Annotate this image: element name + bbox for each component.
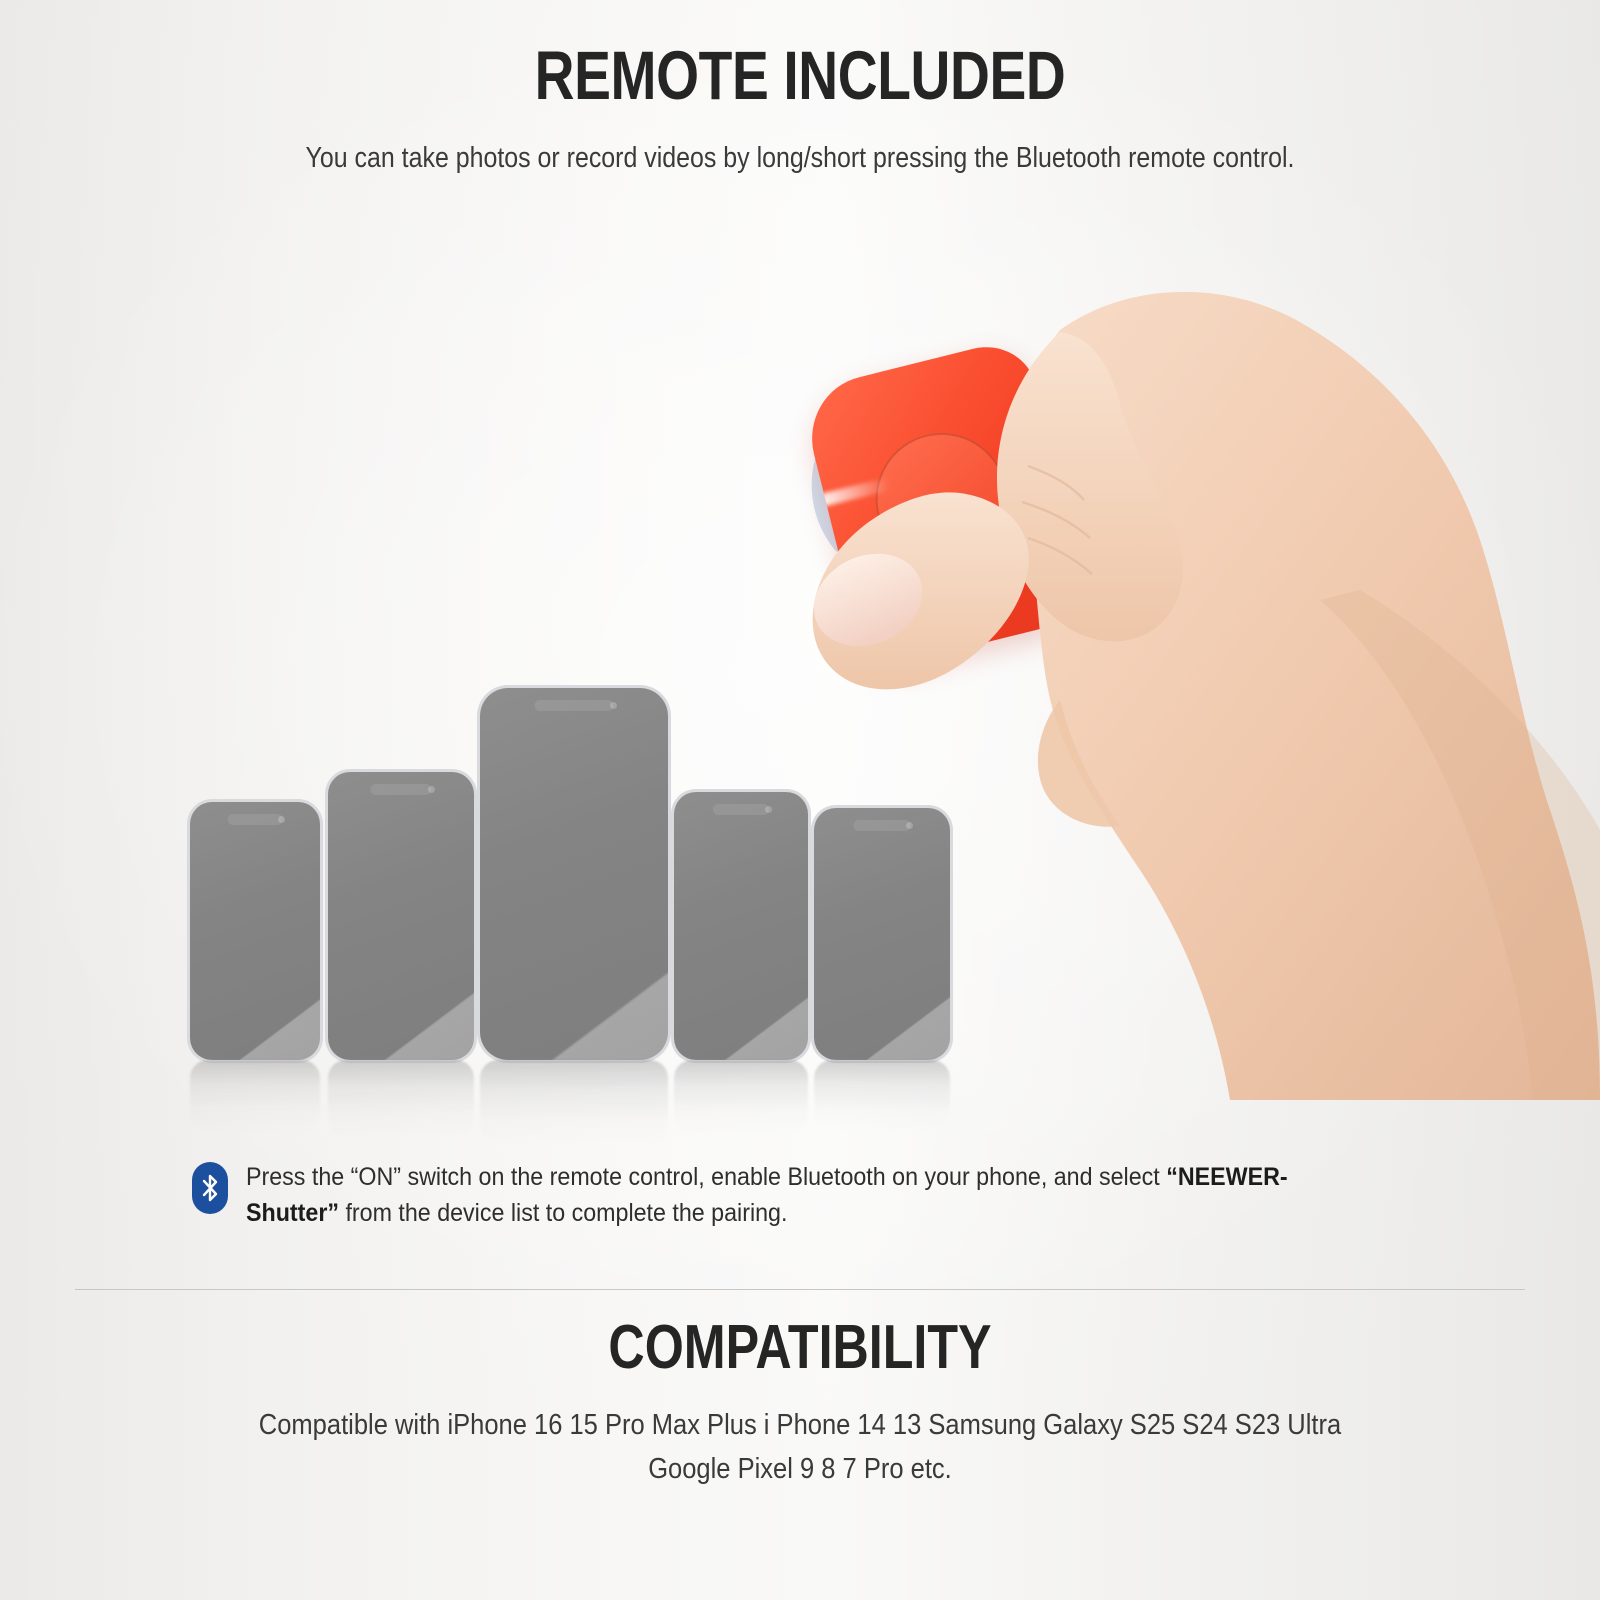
phone-notch-icon [370, 784, 431, 795]
phone-screen-gloss [190, 844, 320, 1060]
compatibility-body: Compatible with iPhone 16 15 Pro Max Plu… [96, 1404, 1504, 1491]
phone-camera-icon [610, 702, 617, 709]
hand-illustration [760, 270, 1600, 1100]
compatibility-title: COMPATIBILITY [152, 1312, 1448, 1383]
page-title: REMOTE INCLUDED [160, 36, 1440, 115]
phone-camera-icon [278, 816, 285, 823]
bluetooth-note-text: Press the “ON” switch on the remote cont… [246, 1160, 1330, 1231]
phone-3 [480, 688, 668, 1060]
phone-2 [328, 772, 474, 1060]
phone-notch-icon [228, 814, 283, 825]
phone-reflection [328, 1060, 474, 1138]
phone-reflection [190, 1060, 320, 1132]
phone-screen-gloss [480, 749, 668, 1060]
page-subtitle: You can take photos or record videos by … [112, 142, 1488, 175]
bt-text-after: from the device list to complete the pai… [339, 1199, 787, 1227]
bluetooth-glyph-icon [200, 1173, 220, 1203]
bt-text-before: Press the “ON” switch on the remote cont… [246, 1163, 1166, 1191]
compatibility-line-1: Compatible with iPhone 16 15 Pro Max Plu… [96, 1404, 1504, 1448]
product-infographic: REMOTE INCLUDED You can take photos or r… [0, 0, 1600, 1600]
phone-notch-icon [535, 700, 614, 711]
phone-camera-icon [428, 786, 435, 793]
hand-holding-remote: NEEWER [760, 270, 1600, 1100]
compatibility-line-2: Google Pixel 9 8 7 Pro etc. [96, 1448, 1504, 1492]
bluetooth-icon [192, 1162, 228, 1214]
phone-reflection [480, 1060, 668, 1146]
phone-1 [190, 802, 320, 1060]
phone-screen-gloss [328, 819, 474, 1060]
section-divider [75, 1289, 1525, 1290]
bluetooth-pairing-note: Press the “ON” switch on the remote cont… [192, 1160, 1412, 1231]
